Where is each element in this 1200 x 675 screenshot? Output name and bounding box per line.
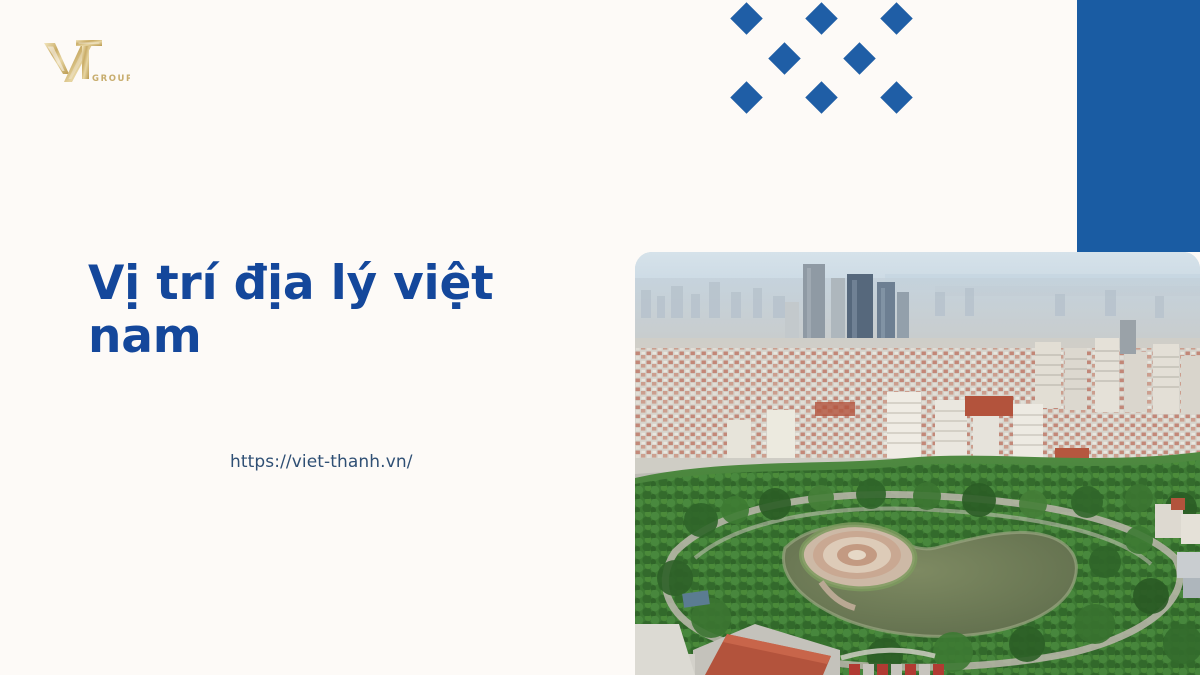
site-url-link[interactable]: https://viet-thanh.vn/ xyxy=(230,452,413,472)
diamond-shape xyxy=(730,81,763,114)
diamond-shape xyxy=(805,2,838,35)
blue-accent-rectangle xyxy=(1077,0,1200,252)
slide-canvas: GROUP Vị trí địa lý việt nam https://vie… xyxy=(0,0,1200,675)
diamond-pattern-decoration xyxy=(725,2,925,117)
diamond-shape xyxy=(880,2,913,35)
logo-wordmark: GROUP xyxy=(92,74,130,84)
vt-group-logo: GROUP xyxy=(38,33,130,87)
diamond-shape xyxy=(730,2,763,35)
page-title: Vị trí địa lý việt nam xyxy=(88,258,608,363)
hanoi-aerial-park-lake-photo xyxy=(635,252,1200,675)
diamond-shape xyxy=(880,81,913,114)
diamond-shape xyxy=(768,42,801,75)
diamond-shape xyxy=(843,42,876,75)
diamond-shape xyxy=(805,81,838,114)
